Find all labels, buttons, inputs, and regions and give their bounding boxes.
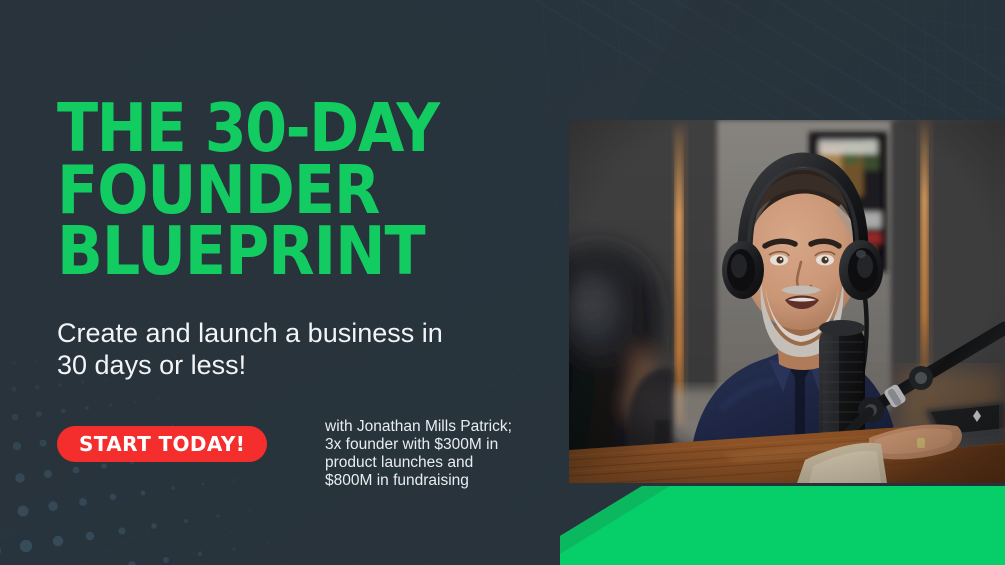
promo-banner: THE 30-DAY FOUNDER BLUEPRINT Create and …	[0, 0, 1005, 565]
headline-line-3: BLUEPRINT	[57, 221, 557, 283]
credit-line-3: product launches and	[325, 454, 575, 472]
credit-line-2: 3x founder with $300M in	[325, 436, 575, 454]
presenter-photo	[569, 120, 1005, 483]
credit-line-1: with Jonathan Mills Patrick;	[325, 418, 575, 436]
subtitle-line-2: 30 days or less!	[57, 350, 537, 382]
page-title: THE 30-DAY FOUNDER BLUEPRINT	[57, 98, 557, 283]
start-today-button[interactable]: START TODAY!	[57, 426, 267, 462]
presenter-credit: with Jonathan Mills Patrick; 3x founder …	[325, 418, 575, 491]
subtitle: Create and launch a business in 30 days …	[57, 318, 537, 381]
credit-line-4: $800M in fundraising	[325, 472, 575, 490]
subtitle-line-1: Create and launch a business in	[57, 318, 537, 350]
